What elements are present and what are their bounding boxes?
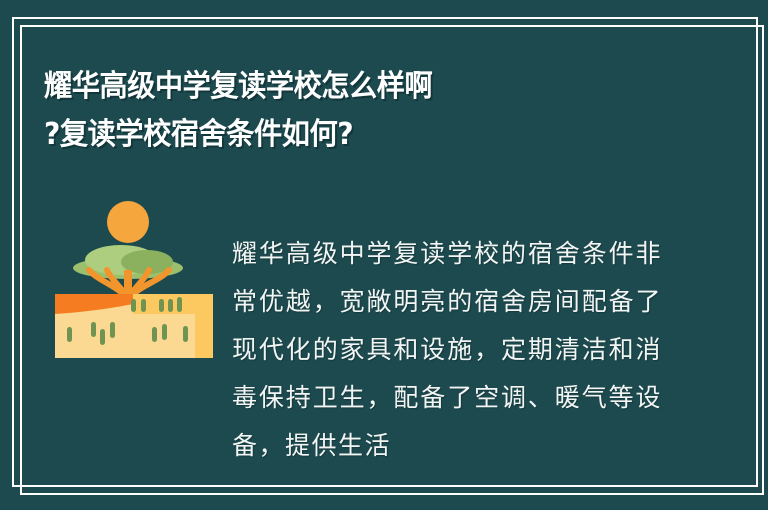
title-line-2: ?复读学校宿舍条件如何? (44, 111, 608, 159)
sun-icon (107, 201, 149, 243)
page-title: 耀华高级中学复读学校怎么样啊 ?复读学校宿舍条件如何? (44, 63, 644, 159)
body-text-block: 耀华高级中学复读学校的宿舍条件非常优越，宽敞明亮的宿舍房间配备了现代化的家具和设… (232, 205, 662, 495)
desert-savanna-illustration (55, 196, 213, 360)
title-line-1: 耀华高级中学复读学校怎么样啊 (44, 63, 608, 111)
poster-canvas: 耀华高级中学复读学校怎么样啊 ?复读学校宿舍条件如何? (0, 0, 768, 510)
body-paragraph: 耀华高级中学复读学校的宿舍条件非常优越，宽敞明亮的宿舍房间配备了现代化的家具和设… (232, 230, 662, 470)
dune-front (55, 314, 195, 358)
